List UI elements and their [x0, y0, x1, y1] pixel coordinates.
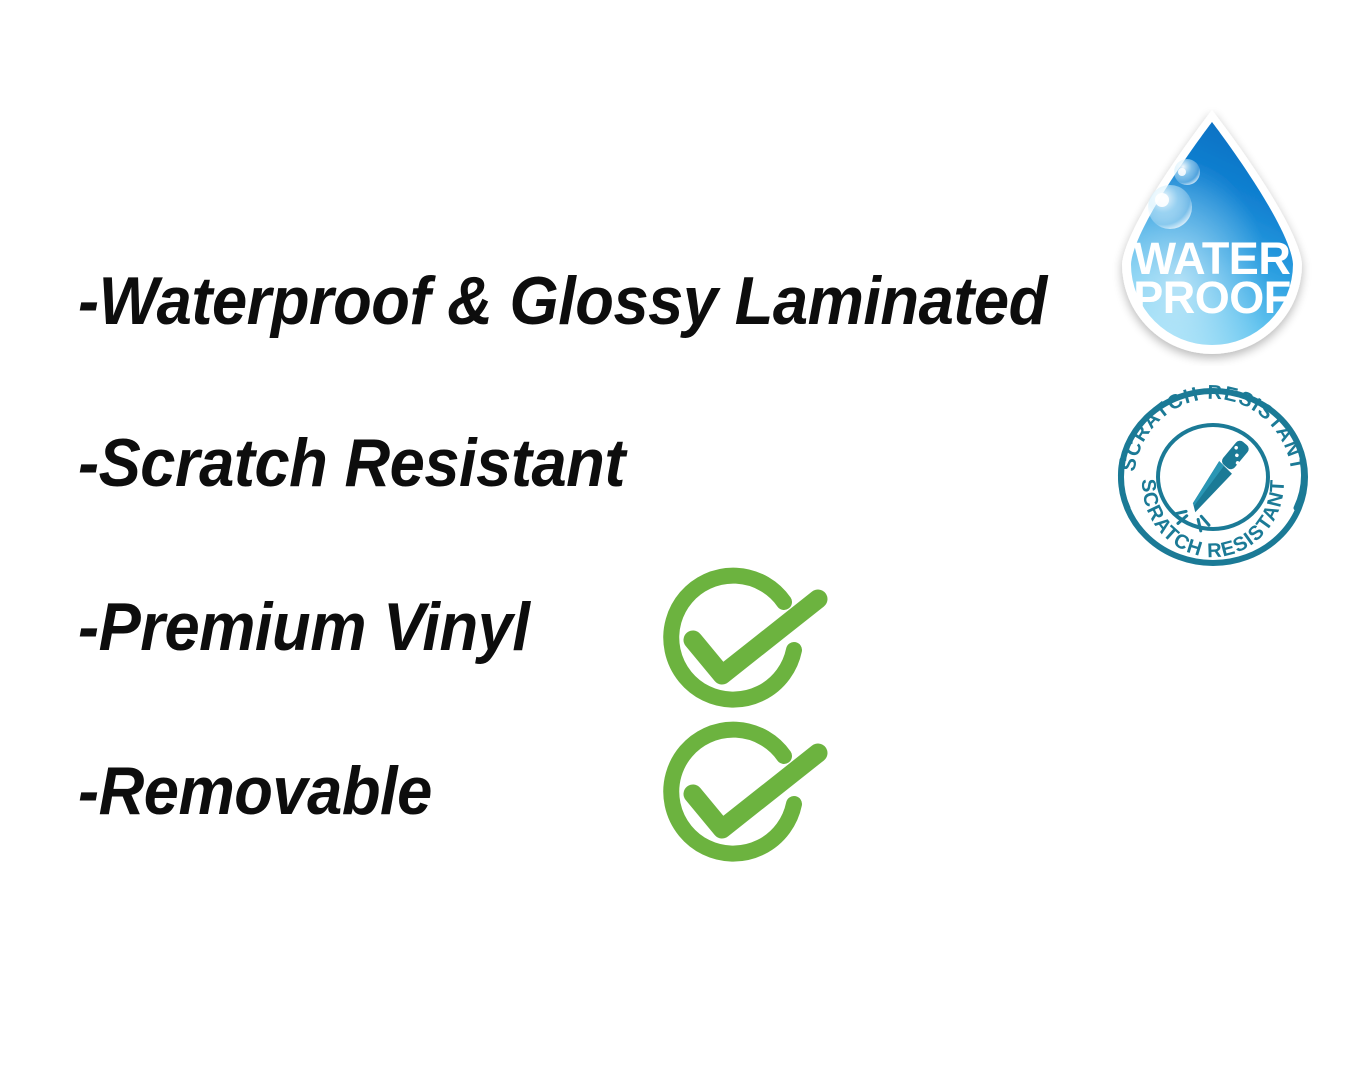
- bubble-large: [1148, 185, 1192, 229]
- list-item: -Removable: [78, 752, 458, 830]
- check-circle-icon: [636, 712, 836, 877]
- scratch-resistant-badge: SCRATCH RESISTANT SCRATCH RESISTANT: [1110, 382, 1315, 572]
- waterproof-line2: PROOF: [1133, 272, 1291, 323]
- feature-callout-graphic: -Waterproof & Glossy Laminated -Scratch …: [0, 0, 1359, 1080]
- list-item: -Waterproof & Glossy Laminated: [78, 262, 1120, 340]
- list-item: -Scratch Resistant: [78, 424, 666, 502]
- feature-label-premium-vinyl: -Premium Vinyl: [78, 588, 530, 666]
- stamp-text-top: SCRATCH RESISTANT: [1118, 382, 1309, 473]
- check-circle-icon: [636, 558, 836, 723]
- bubble-small: [1174, 159, 1200, 185]
- waterproof-badge: WATER PROOF: [1102, 104, 1322, 371]
- feature-label-scratch-resistant: -Scratch Resistant: [78, 424, 625, 502]
- feature-label-waterproof-glossy-laminated: -Waterproof & Glossy Laminated: [78, 262, 1047, 340]
- feature-label-removable: -Removable: [78, 752, 432, 830]
- list-item: -Premium Vinyl: [78, 588, 564, 666]
